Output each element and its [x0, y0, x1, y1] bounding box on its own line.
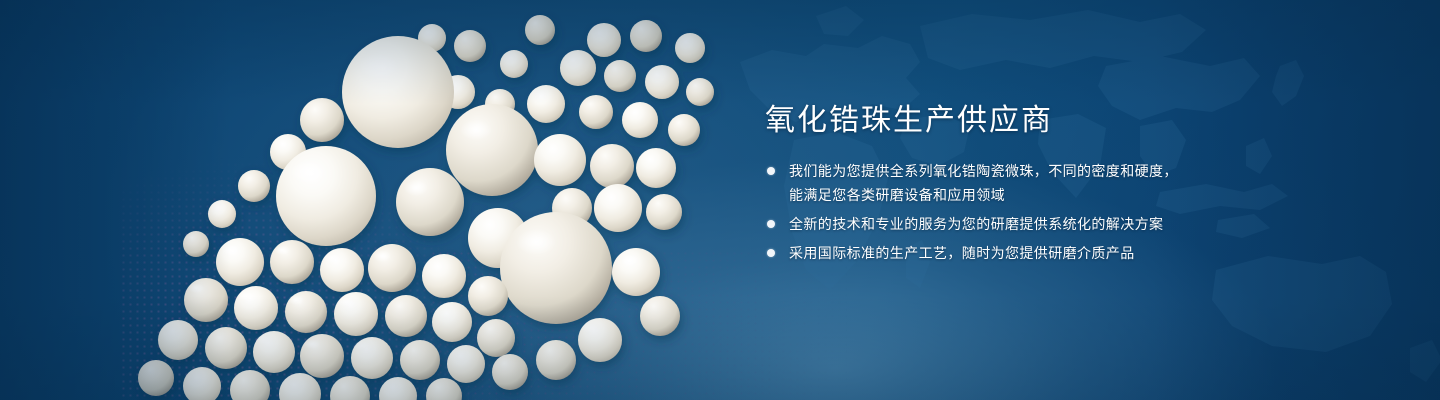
list-item: 我们能为您提供全系列氧化锆陶瓷微珠，不同的密度和硬度， 能满足您各类研磨设备和应… — [763, 160, 1283, 206]
list-item-line: 全新的技术和专业的服务为您的研磨提供系统化的解决方案 — [789, 213, 1283, 235]
page-title: 氧化锆珠生产供应商 — [765, 104, 1283, 138]
bullet-dot-icon — [767, 220, 775, 228]
list-item-line: 我们能为您提供全系列氧化锆陶瓷微珠，不同的密度和硬度， — [789, 160, 1283, 182]
bullet-dot-icon — [767, 167, 775, 175]
hero-banner: 氧化锆珠生产供应商 我们能为您提供全系列氧化锆陶瓷微珠，不同的密度和硬度， 能满… — [0, 0, 1440, 400]
list-item-line: 采用国际标准的生产工艺，随时为您提供研磨介质产品 — [789, 242, 1283, 264]
list-item: 全新的技术和专业的服务为您的研磨提供系统化的解决方案 — [763, 213, 1283, 235]
list-item: 采用国际标准的生产工艺，随时为您提供研磨介质产品 — [763, 242, 1283, 264]
banner-copy: 氧化锆珠生产供应商 我们能为您提供全系列氧化锆陶瓷微珠，不同的密度和硬度， 能满… — [763, 104, 1283, 264]
bullet-dot-icon — [767, 249, 775, 257]
list-item-line: 能满足您各类研磨设备和应用领域 — [789, 184, 1283, 206]
feature-list: 我们能为您提供全系列氧化锆陶瓷微珠，不同的密度和硬度， 能满足您各类研磨设备和应… — [763, 160, 1283, 264]
